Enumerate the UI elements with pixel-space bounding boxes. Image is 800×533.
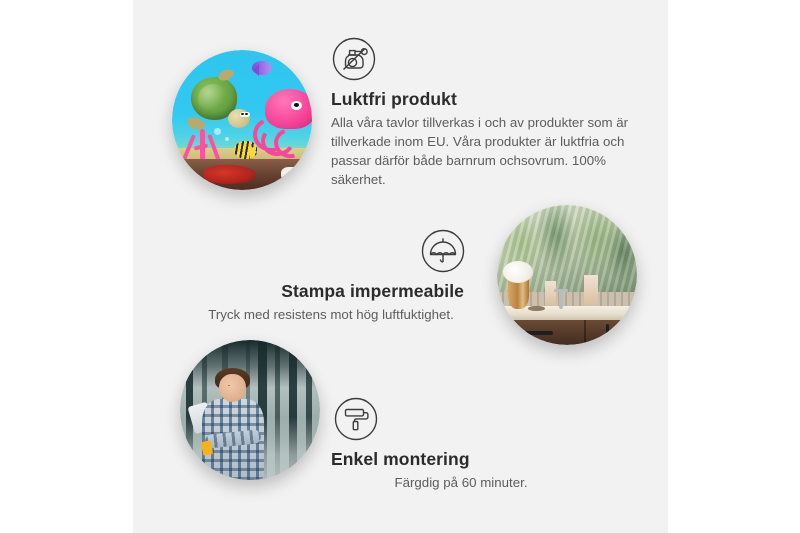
feature-title: Luktfri produkt [331,89,631,110]
vanity-cabinet [497,320,637,345]
fish-yellow-icon [234,141,258,159]
no-perfume-icon [331,36,377,82]
forest-canopy [180,340,320,388]
decor-box [545,281,556,306]
paint-roller-icon [333,396,379,442]
feature-title: Enkel montering [331,449,591,470]
face [219,374,246,402]
umbrella-icon [420,228,466,274]
promo-infographic: Luktfri produkt Alla våra tavlor tillver… [0,0,800,533]
image-underwater-mural [172,50,312,190]
feature-title: Stampa impermeabile [196,281,466,302]
octopus-icon [256,89,312,153]
feature-easy-mounting: Enkel montering Färgdig på 60 minuter. [331,396,591,493]
image-bathroom-vanity-mural [497,205,637,345]
feature-odourless: Luktfri produkt Alla våra tavlor tillver… [331,36,631,190]
feature-description: Tryck med resistens mot hög luftfuktighe… [196,306,466,325]
image-forest-mural-installer [180,340,320,480]
feature-description: Färgdig på 60 minuter. [331,474,591,493]
fish-purple-icon [252,61,272,75]
feature-waterproof: Stampa impermeabile Tryck med resistens … [196,228,466,325]
sea-foreground-strip [172,159,312,190]
feature-description: Alla våra tavlor tillverkas i och av pro… [331,114,631,190]
decor-box [584,275,598,306]
faucet-icon [559,289,563,309]
